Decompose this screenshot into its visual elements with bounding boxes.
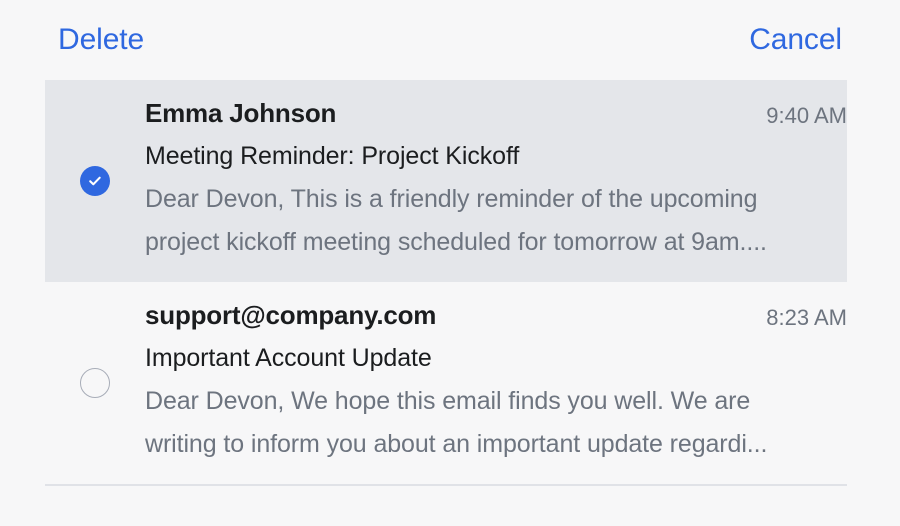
message-subject: Meeting Reminder: Project Kickoff (145, 140, 847, 173)
delete-button[interactable]: Delete (58, 25, 144, 55)
message-timestamp: 8:23 AM (766, 300, 847, 333)
message-subject: Important Account Update (145, 342, 847, 375)
message-row[interactable]: Emma Johnson 9:40 AM Meeting Reminder: P… (45, 80, 847, 282)
cancel-button[interactable]: Cancel (749, 25, 842, 55)
checkbox-cell (45, 368, 145, 398)
message-preview: Dear Devon, This is a friendly reminder … (145, 178, 810, 264)
message-body: Emma Johnson 9:40 AM Meeting Reminder: P… (145, 98, 847, 264)
message-sender: Emma Johnson (145, 98, 336, 129)
message-sender: support@company.com (145, 300, 436, 331)
check-circle-filled-icon[interactable] (80, 166, 110, 196)
action-bar: Delete Cancel (0, 0, 900, 80)
list-divider (45, 484, 847, 486)
checkbox-cell (45, 166, 145, 196)
message-timestamp: 9:40 AM (766, 98, 847, 131)
message-body: support@company.com 8:23 AM Important Ac… (145, 300, 847, 466)
message-preview: Dear Devon, We hope this email finds you… (145, 380, 810, 466)
message-list: Emma Johnson 9:40 AM Meeting Reminder: P… (0, 80, 900, 486)
message-header-line: Emma Johnson 9:40 AM (145, 98, 847, 131)
circle-outline-icon[interactable] (80, 368, 110, 398)
message-row[interactable]: support@company.com 8:23 AM Important Ac… (45, 282, 847, 484)
message-header-line: support@company.com 8:23 AM (145, 300, 847, 333)
